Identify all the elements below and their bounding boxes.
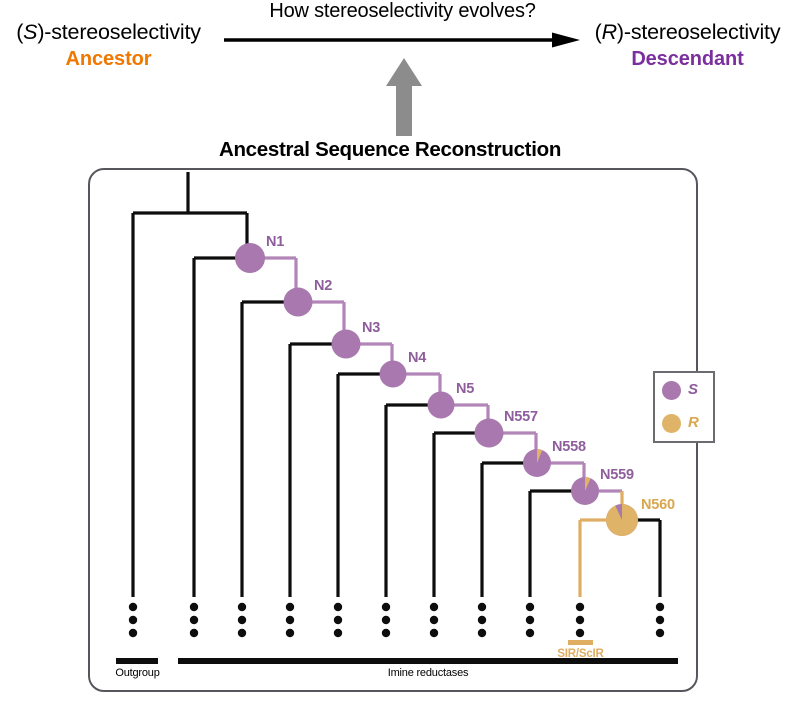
tip-ellipsis [129,603,137,637]
node-pie-N5[interactable] [428,392,455,419]
node-label-N1: N1 [266,234,284,250]
tip-ellipsis [286,603,294,637]
tip-ellipsis [656,603,664,637]
stereo-letter-r: R [602,20,617,44]
tip-ellipsis [526,603,534,637]
node-pie-N4[interactable] [380,361,407,388]
node-label-N3: N3 [362,320,380,336]
tree-diagram [90,170,696,690]
node-pie-N557[interactable] [475,419,504,448]
evolution-question-caption: How stereoselectivity evolves? [230,0,575,23]
descendant-column: (R)-stereoselectivity Descendant [575,20,799,71]
node-pie-N560[interactable] [606,504,638,536]
tip-ellipsis [238,603,246,637]
asr-caption: Ancestral Sequence Reconstruction [160,138,620,162]
node-pie-N2[interactable] [284,288,313,317]
node-label-N4: N4 [408,350,426,366]
header-banner: (S)-stereoselectivity Ancestor (R)-stere… [0,0,799,160]
legend-label-r: R [688,414,699,431]
ancestor-role-label: Ancestor [0,48,221,71]
tip-ellipsis [382,603,390,637]
imine-reductases-label: Imine reductases [328,667,528,679]
tip-ellipsis-group [129,603,664,637]
phylogenetic-tree-panel: N1 N2 N3 N4 N5 N557 N558 N559 N560 S R S… [88,168,698,692]
descendant-stereoselectivity-label: (R)-stereoselectivity [575,20,799,45]
descendant-role-label: Descendant [575,48,799,71]
outgroup-label: Outgroup [95,667,180,679]
ancestor-column: (S)-stereoselectivity Ancestor [0,20,221,71]
tip-ellipsis [190,603,198,637]
tip-ellipsis [430,603,438,637]
node-pie-N3[interactable] [332,330,361,359]
tip-ellipsis [576,603,584,637]
stereo-letter-s: S [23,20,37,44]
legend-swatch-s [662,381,681,400]
node-label-N5: N5 [456,381,474,397]
node-pie-N559[interactable] [571,477,599,505]
node-label-N2: N2 [314,278,332,294]
evolution-arrow-icon [222,30,582,50]
outgroup-clade-bar [116,658,158,664]
legend-swatch-r [662,414,681,433]
stereoselectivity-legend: S R [653,371,715,443]
node-pie-N1[interactable] [235,243,265,273]
node-label-N560: N560 [641,497,675,513]
sir-scir-clade-bar [568,640,593,645]
tip-ellipsis [478,603,486,637]
node-pie-N558[interactable] [523,449,551,477]
node-label-N558: N558 [552,439,586,455]
legend-label-s: S [688,381,698,398]
sir-scir-label: SIR/ScIR [538,648,623,660]
node-label-N559: N559 [600,467,634,483]
tip-ellipsis [334,603,342,637]
asr-up-arrow-icon [382,56,426,136]
ancestor-stereoselectivity-label: (S)-stereoselectivity [0,20,221,45]
node-label-N557: N557 [504,409,538,425]
